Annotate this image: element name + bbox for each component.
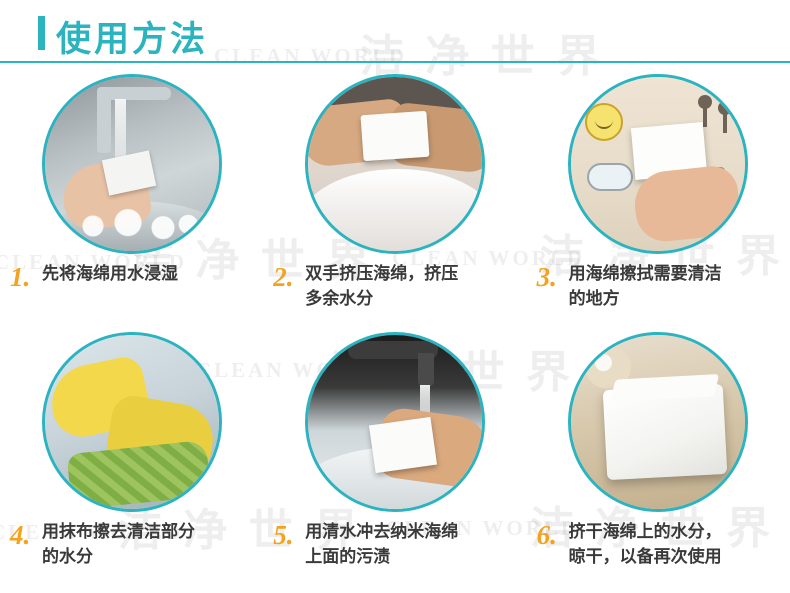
step-2-caption: 2. 双手挤压海绵，挤压 多余水分 (263, 262, 526, 318)
step-4-number: 4. (10, 520, 30, 551)
step-1-number: 1. (10, 262, 30, 293)
page-title: 使用方法 (56, 11, 208, 62)
step-5-text: 用清水冲去纳米海绵 上面的污渍 (305, 522, 458, 567)
step-4-text: 用抹布擦去清洁部分 的水分 (42, 522, 195, 567)
step-3-caption: 3. 用海绵擦拭需要清洁 的地方 (527, 262, 790, 318)
step-item-3: 3. 用海绵擦拭需要清洁 的地方 (527, 74, 790, 318)
step-1-text: 先将海绵用水浸湿 (42, 264, 178, 284)
step-2-image-wrap (305, 74, 485, 254)
step-2-text: 双手挤压海绵，挤压 多余水分 (305, 264, 458, 309)
step-6-image-wrap (568, 332, 748, 512)
section-header: 使用方法 (0, 0, 790, 62)
step-3-text: 用海绵擦拭需要清洁 的地方 (569, 264, 722, 309)
step-6-caption: 6. 挤干海绵上的水分， 晾干，以备再次使用 (527, 520, 790, 576)
step-5-number: 5. (273, 520, 293, 551)
step-item-6: 6. 挤干海绵上的水分， 晾干，以备再次使用 (527, 332, 790, 576)
step-item-1: 1. 先将海绵用水浸湿 (0, 74, 263, 318)
step-item-5: 5. 用清水冲去纳米海绵 上面的污渍 (263, 332, 526, 576)
dry-sponge-block-photo (568, 332, 748, 512)
step-4-caption: 4. 用抹布擦去清洁部分 的水分 (0, 520, 263, 576)
steps-row-2: 4. 用抹布擦去清洁部分 的水分 5. 用清水冲去纳米海绵 上面的污渍 (0, 332, 790, 576)
step-item-4: 4. 用抹布擦去清洁部分 的水分 (0, 332, 263, 576)
steps-row-1: 1. 先将海绵用水浸湿 2. 双手挤压海绵，挤压 多余水分 (0, 74, 790, 318)
step-5-caption: 5. 用清水冲去纳米海绵 上面的污渍 (263, 520, 526, 576)
steps-grid: 1. 先将海绵用水浸湿 2. 双手挤压海绵，挤压 多余水分 (0, 74, 790, 576)
sponge-wiping-wall-photo (568, 74, 748, 254)
step-4-image-wrap (42, 332, 222, 512)
step-5-image-wrap (305, 332, 485, 512)
header-divider (0, 61, 790, 63)
gloves-with-cloth-photo (42, 332, 222, 512)
hands-squeezing-sponge-photo (305, 74, 485, 254)
header-accent-bar (38, 16, 45, 50)
step-6-number: 6. (537, 520, 557, 551)
rinsing-sponge-photo (305, 332, 485, 512)
step-1-image-wrap (42, 74, 222, 254)
step-2-number: 2. (273, 262, 293, 293)
step-1-caption: 1. 先将海绵用水浸湿 (0, 262, 263, 318)
step-3-number: 3. (537, 262, 557, 293)
step-6-text: 挤干海绵上的水分， 晾干，以备再次使用 (569, 522, 722, 567)
step-item-2: 2. 双手挤压海绵，挤压 多余水分 (263, 74, 526, 318)
step-3-image-wrap (568, 74, 748, 254)
sponge-under-tap-photo (42, 74, 222, 254)
